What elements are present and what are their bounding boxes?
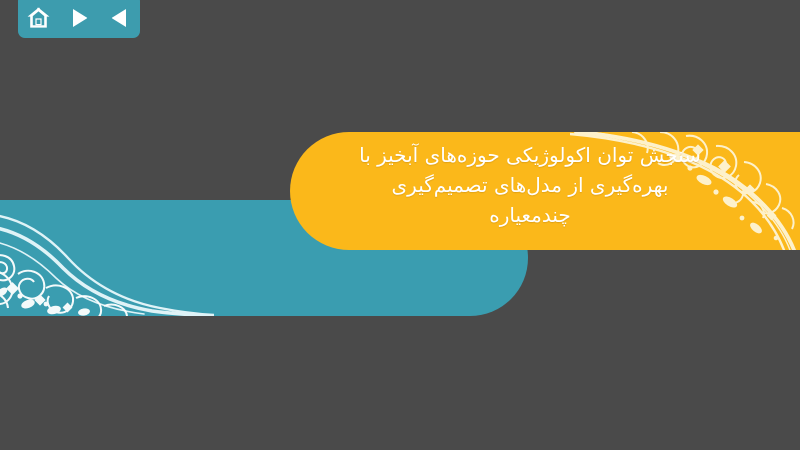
triangle-right-icon bbox=[71, 8, 88, 28]
slide-title-line-3: چندمعیاره bbox=[300, 200, 760, 230]
slide-title-line-1: سنجش توان اکولوژیکی حوزه‌های آبخیز با bbox=[300, 140, 760, 170]
slide-title: سنجش توان اکولوژیکی حوزه‌های آبخیز با به… bbox=[300, 140, 760, 230]
previous-button[interactable] bbox=[105, 5, 135, 31]
home-icon bbox=[27, 7, 50, 29]
slide-canvas: سنجش توان اکولوژیکی حوزه‌های آبخیز با به… bbox=[0, 0, 800, 450]
slide-title-line-2: بهره‌گیری از مدل‌های تصمیم‌گیری bbox=[300, 170, 760, 200]
navigation-bar bbox=[18, 0, 140, 38]
triangle-left-icon bbox=[111, 8, 128, 28]
teal-arabesque-ornament-icon bbox=[0, 200, 214, 316]
home-button[interactable] bbox=[23, 5, 53, 31]
next-button[interactable] bbox=[64, 5, 94, 31]
